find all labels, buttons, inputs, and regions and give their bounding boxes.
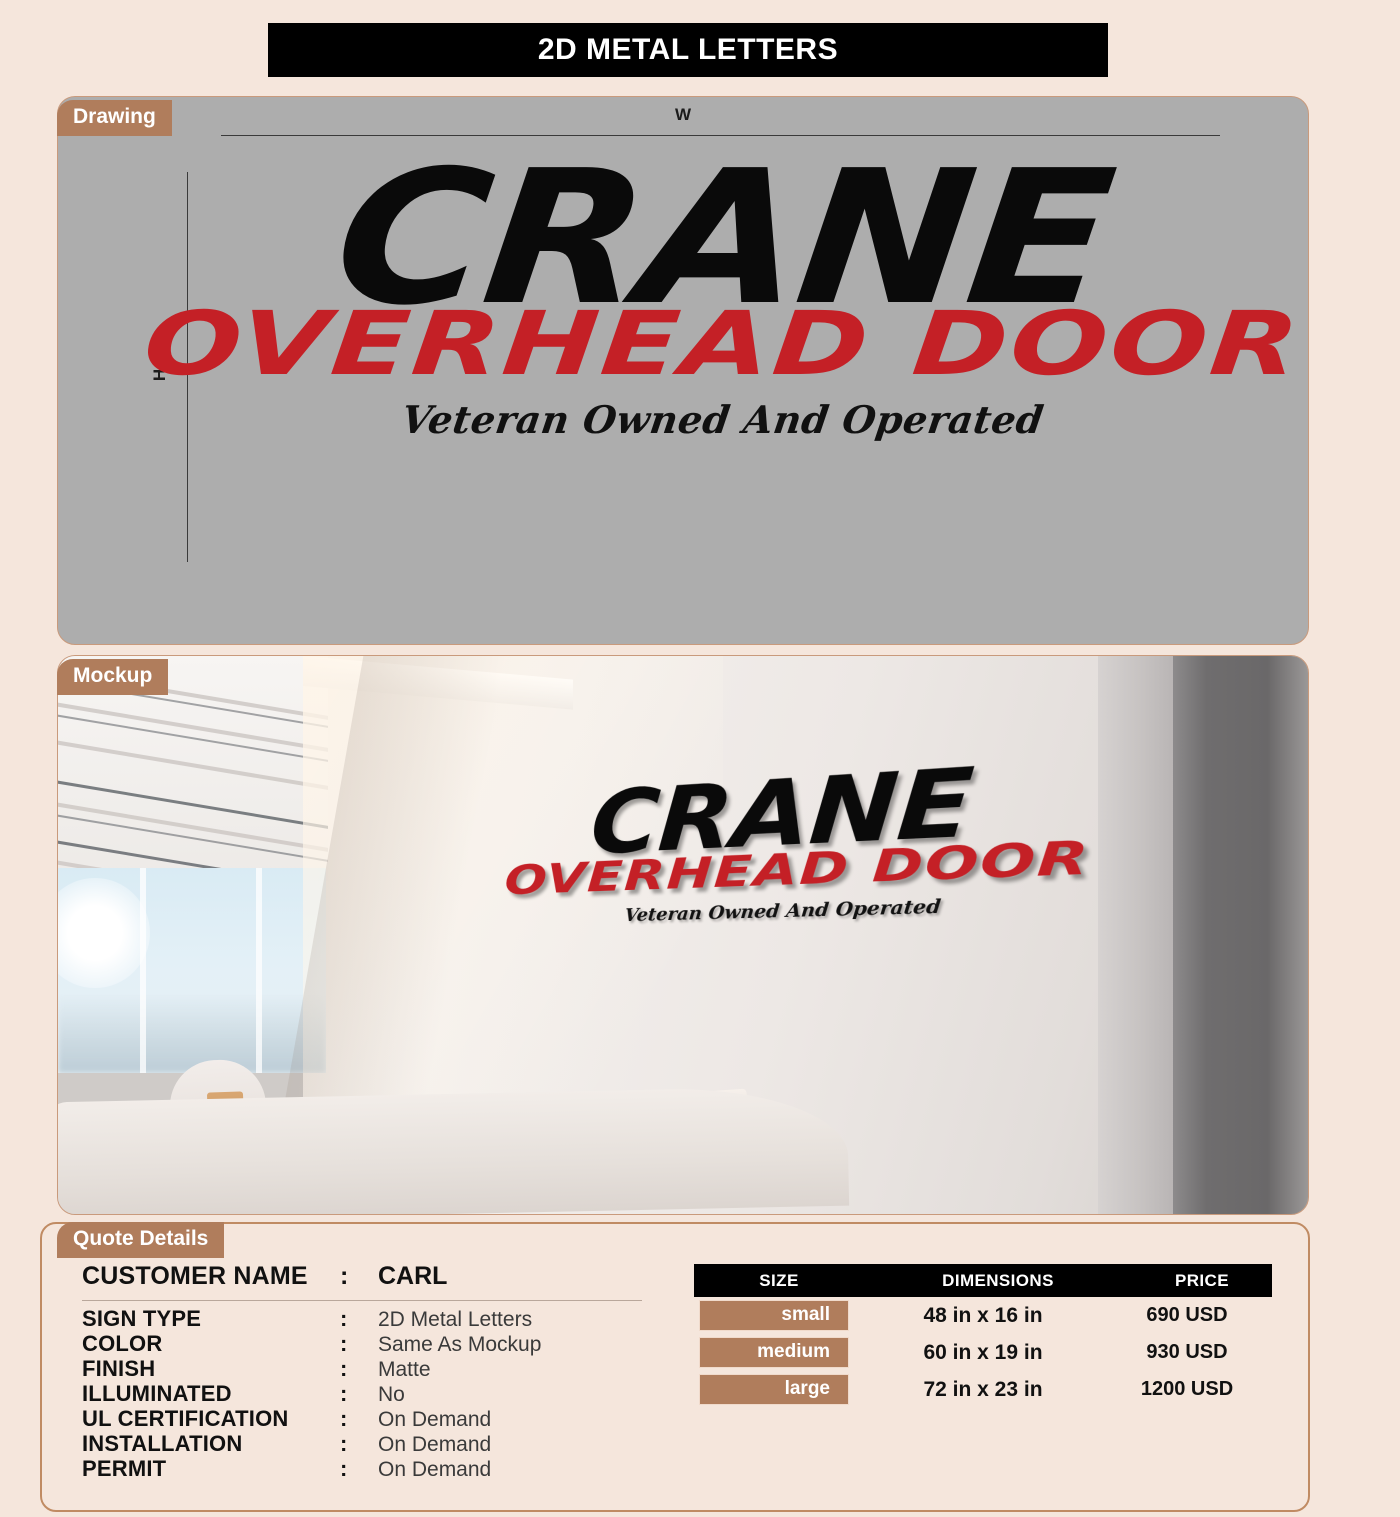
detail-value: 2D Metal Letters bbox=[378, 1308, 532, 1332]
column-header-size: SIZE bbox=[694, 1271, 864, 1291]
page-title-bar: 2D METAL LETTERS bbox=[268, 23, 1108, 77]
detail-row-permit: PERMIT : On Demand bbox=[82, 1456, 682, 1481]
quote-details-list: CUSTOMER NAME : CARL SIGN TYPE : 2D Meta… bbox=[82, 1262, 682, 1481]
mockup-logo: CRANE OVERHEAD DOOR Veteran Owned And Op… bbox=[510, 754, 1080, 928]
wall-column-dark bbox=[1173, 656, 1308, 1215]
quote-details-badge: Quote Details bbox=[57, 1222, 224, 1258]
detail-key: SIGN TYPE bbox=[82, 1306, 340, 1332]
detail-colon: : bbox=[340, 1262, 378, 1291]
detail-value: On Demand bbox=[378, 1433, 491, 1457]
logo-secondary-text: OVERHEAD DOOR bbox=[141, 302, 1305, 386]
column-header-price: PRICE bbox=[1132, 1271, 1272, 1291]
detail-row-sign-type: SIGN TYPE : 2D Metal Letters bbox=[82, 1306, 682, 1331]
detail-colon: : bbox=[340, 1306, 378, 1332]
window bbox=[58, 868, 326, 1073]
drawing-logo: CRANE OVERHEAD DOOR Veteran Owned And Op… bbox=[218, 149, 1228, 589]
detail-row-customer-name: CUSTOMER NAME : CARL bbox=[82, 1262, 682, 1298]
pricing-table: SIZE DIMENSIONS PRICE small 48 in x 16 i… bbox=[694, 1264, 1272, 1408]
detail-colon: : bbox=[340, 1331, 378, 1357]
reception-desk bbox=[57, 1086, 849, 1215]
size-chip-large[interactable]: large bbox=[699, 1374, 849, 1405]
column-header-dimensions: DIMENSIONS bbox=[864, 1271, 1132, 1291]
detail-key: UL CERTIFICATION bbox=[82, 1406, 340, 1432]
pricing-row-medium[interactable]: medium 60 in x 19 in 930 USD bbox=[694, 1334, 1272, 1371]
detail-value: CARL bbox=[378, 1262, 447, 1291]
detail-value: On Demand bbox=[378, 1458, 491, 1482]
detail-key: FINISH bbox=[82, 1356, 340, 1382]
dimensions-value: 60 in x 19 in bbox=[849, 1341, 1117, 1365]
window-mullion bbox=[256, 868, 262, 1073]
pricing-row-large[interactable]: large 72 in x 23 in 1200 USD bbox=[694, 1371, 1272, 1408]
price-value: 690 USD bbox=[1117, 1304, 1257, 1327]
detail-value: Same As Mockup bbox=[378, 1333, 541, 1357]
detail-key: ILLUMINATED bbox=[82, 1381, 340, 1407]
detail-colon: : bbox=[340, 1456, 378, 1482]
dimensions-value: 48 in x 16 in bbox=[849, 1304, 1117, 1328]
detail-row-illuminated: ILLUMINATED : No bbox=[82, 1381, 682, 1406]
wall-column-light bbox=[1098, 656, 1173, 1215]
detail-row-finish: FINISH : Matte bbox=[82, 1356, 682, 1381]
detail-key: INSTALLATION bbox=[82, 1431, 340, 1457]
drawing-badge: Drawing bbox=[57, 100, 172, 136]
pricing-row-small[interactable]: small 48 in x 16 in 690 USD bbox=[694, 1297, 1272, 1334]
sun-glare bbox=[58, 878, 150, 988]
size-chip-small[interactable]: small bbox=[699, 1300, 849, 1331]
drawing-panel: W H CRANE OVERHEAD DOOR Veteran Owned An… bbox=[57, 96, 1309, 645]
detail-colon: : bbox=[340, 1356, 378, 1382]
price-value: 930 USD bbox=[1117, 1341, 1257, 1364]
size-chip-medium[interactable]: medium bbox=[699, 1337, 849, 1368]
mockup-scene: CRANE OVERHEAD DOOR Veteran Owned And Op… bbox=[58, 656, 1308, 1214]
detail-colon: : bbox=[340, 1381, 378, 1407]
detail-key: CUSTOMER NAME bbox=[82, 1262, 340, 1291]
detail-colon: : bbox=[340, 1431, 378, 1457]
detail-row-installation: INSTALLATION : On Demand bbox=[82, 1431, 682, 1456]
logo-tagline-text: Veteran Owned And Operated bbox=[399, 397, 1047, 442]
quote-details-panel: CUSTOMER NAME : CARL SIGN TYPE : 2D Meta… bbox=[40, 1222, 1310, 1512]
detail-key: PERMIT bbox=[82, 1456, 340, 1482]
detail-row-ul-certification: UL CERTIFICATION : On Demand bbox=[82, 1406, 682, 1431]
detail-row-color: COLOR : Same As Mockup bbox=[82, 1331, 682, 1356]
detail-divider bbox=[82, 1300, 642, 1301]
detail-colon: : bbox=[340, 1406, 378, 1432]
dimensions-value: 72 in x 23 in bbox=[849, 1378, 1117, 1402]
detail-value: Matte bbox=[378, 1358, 431, 1382]
width-marker-label: W bbox=[58, 105, 1308, 125]
detail-value: No bbox=[378, 1383, 405, 1407]
skyline bbox=[58, 993, 326, 1073]
detail-key: COLOR bbox=[82, 1331, 340, 1357]
quote-sheet: 2D METAL LETTERS Drawing W H CRANE OVERH… bbox=[0, 0, 1400, 1517]
pricing-table-header: SIZE DIMENSIONS PRICE bbox=[694, 1264, 1272, 1297]
window-mullion bbox=[140, 868, 146, 1073]
mockup-badge: Mockup bbox=[57, 659, 168, 695]
detail-value: On Demand bbox=[378, 1408, 491, 1432]
page-title: 2D METAL LETTERS bbox=[538, 33, 838, 67]
mockup-panel: CRANE OVERHEAD DOOR Veteran Owned And Op… bbox=[57, 655, 1309, 1215]
price-value: 1200 USD bbox=[1117, 1378, 1257, 1401]
